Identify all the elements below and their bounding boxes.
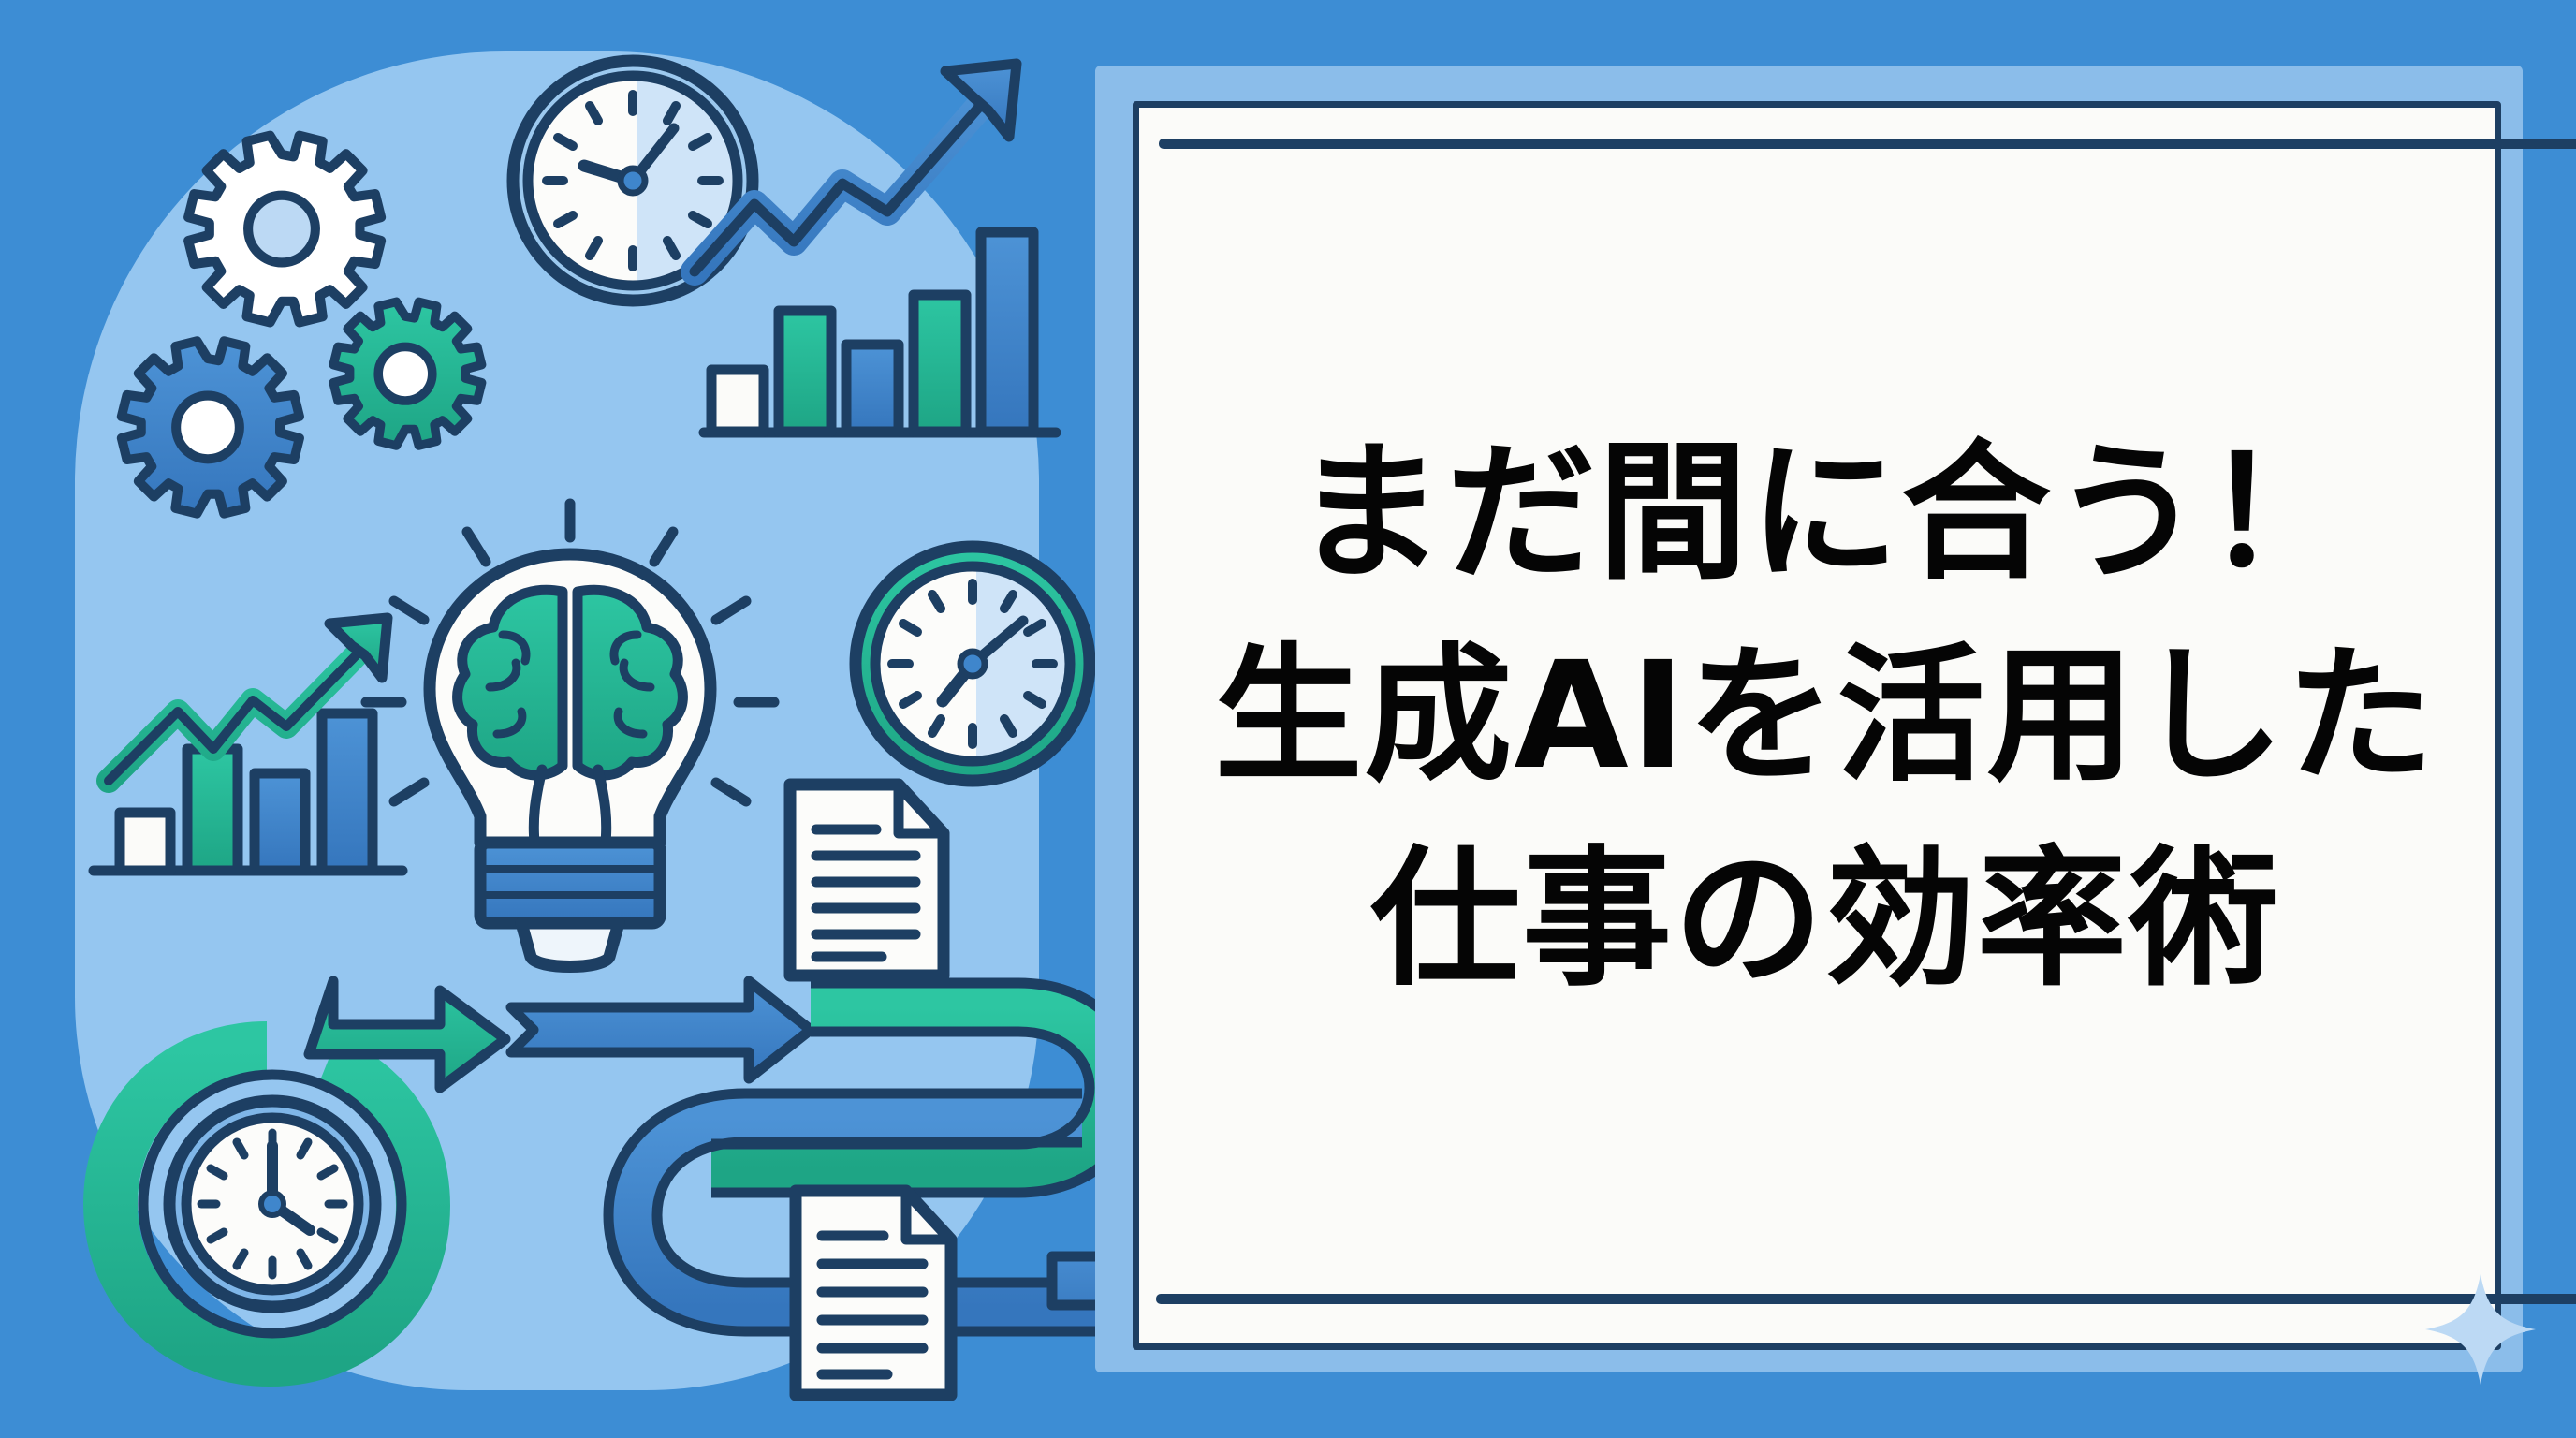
document-upper-icon [790, 785, 944, 976]
sparkle-icon [2420, 1269, 2541, 1390]
gear-teal-icon [333, 301, 481, 446]
bar-5 [981, 232, 1033, 432]
growth-chart-top [695, 64, 1056, 433]
poster-canvas: まだ間に合う！ 生成AIを活用した 仕事の効率術 [0, 0, 2576, 1438]
bar-2 [187, 749, 238, 871]
document-lower-icon [796, 1191, 951, 1395]
arrow-right-1 [511, 981, 811, 1078]
time-loop-icon [110, 981, 505, 1359]
headline-line-3: 仕事の効率術 [1370, 844, 2280, 994]
headline-block: まだ間に合う！ 生成AIを活用した 仕事の効率術 [1137, 140, 2513, 1292]
bar-3 [255, 773, 305, 871]
clock-right-icon [856, 547, 1090, 781]
bar-2 [779, 311, 831, 432]
clock-bottom-icon [143, 1075, 402, 1333]
lightbulb-brain-icon [366, 504, 774, 967]
growth-chart-left [94, 618, 402, 871]
illustration-artwork [0, 0, 1170, 1438]
gear-blue-icon [122, 341, 300, 513]
bar-4 [914, 295, 966, 432]
gear-group [122, 136, 482, 514]
bar-3 [846, 345, 899, 432]
illustration-panel [0, 0, 1170, 1438]
bar-4 [322, 713, 373, 871]
bottom-rule [1156, 1294, 2576, 1304]
headline-line-2: 生成AIを活用した [1214, 642, 2436, 790]
headline-line-1: まだ間に合う！ [1295, 438, 2356, 588]
gear-white-icon [188, 136, 381, 323]
bar-1 [711, 370, 764, 432]
bar-1 [120, 813, 170, 871]
